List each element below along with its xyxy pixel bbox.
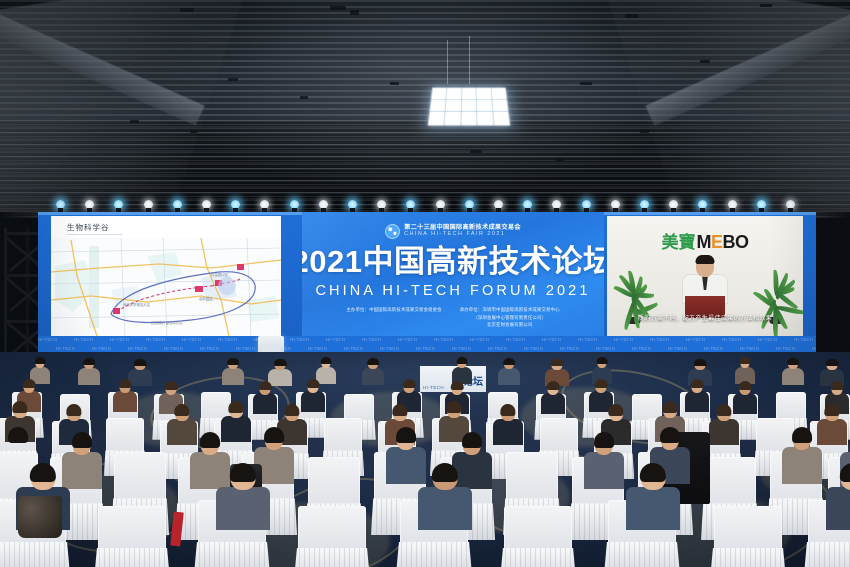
person-torso bbox=[709, 419, 739, 445]
wall-watermark: HI-TECH bbox=[344, 346, 363, 351]
chair-skirt bbox=[94, 548, 170, 567]
person-torso bbox=[216, 487, 270, 530]
audience-chair bbox=[714, 506, 782, 567]
wall-watermark: HI-TECH bbox=[236, 346, 255, 351]
audience-chair bbox=[504, 506, 572, 567]
svg-text:高新园站: 高新园站 bbox=[199, 296, 213, 301]
wall-watermark: HI-TECH bbox=[362, 337, 381, 342]
audience-chair bbox=[98, 506, 166, 567]
person-hair bbox=[227, 358, 239, 365]
person-hair bbox=[826, 359, 839, 366]
wall-watermark: HI-TECH bbox=[200, 346, 219, 351]
wall-watermark: HI-TECH bbox=[434, 337, 453, 342]
wall-watermark: HI-TECH bbox=[668, 346, 687, 351]
chair-back bbox=[506, 452, 558, 502]
audience-member bbox=[452, 358, 472, 384]
forum-title-cn: 2021中国高新技术论坛 bbox=[302, 246, 604, 277]
wall-watermark: HI-TECH bbox=[740, 346, 759, 351]
wall-watermark: HI-TECH bbox=[506, 337, 525, 342]
person-hair bbox=[831, 381, 844, 390]
wall-watermark: HI-TECH bbox=[812, 346, 816, 351]
person-hair bbox=[23, 379, 36, 388]
person-torso bbox=[498, 368, 520, 385]
chair-skirt bbox=[604, 542, 680, 567]
person-hair bbox=[691, 379, 704, 388]
person-hair bbox=[230, 463, 256, 482]
led-panel-right-video: 美寶 MEBO 质的方案不同，配方产生最佳成果的方法和效果 bbox=[607, 216, 803, 336]
person-hair bbox=[66, 404, 81, 416]
wall-watermark: HI-TECH bbox=[182, 337, 201, 342]
person-torso bbox=[362, 368, 384, 385]
svg-text:西丽湖站 留仙洞片区: 西丽湖站 留仙洞片区 bbox=[151, 320, 183, 325]
organizer-coorganizer: 承办单位：深圳市中国国际高新技术成果交易中心 （深圳会展中心管理有限责任公司） … bbox=[460, 307, 560, 328]
person-torso bbox=[253, 393, 277, 414]
person-hair bbox=[594, 432, 614, 448]
person-hair bbox=[274, 359, 287, 366]
person-hair bbox=[83, 358, 95, 365]
person-hair bbox=[446, 401, 461, 413]
chair-back bbox=[540, 418, 578, 453]
person-hair bbox=[660, 427, 680, 443]
audience-member bbox=[222, 359, 244, 385]
audience-member bbox=[498, 359, 520, 385]
audience-member bbox=[362, 359, 384, 385]
person-hair bbox=[500, 404, 515, 416]
organizer-host: 主办单位：中国国际高新技术成果交易会组委会 bbox=[346, 307, 441, 328]
person-hair bbox=[597, 357, 608, 364]
person-torso bbox=[782, 368, 804, 385]
person-hair bbox=[662, 401, 677, 413]
wall-watermark: HI-TECH bbox=[38, 337, 57, 342]
wall-watermark: HI-TECH bbox=[74, 337, 93, 342]
audience-member bbox=[782, 428, 822, 484]
audience-member bbox=[113, 380, 137, 412]
wall-watermark: HI-TECH bbox=[794, 337, 813, 342]
person-hair bbox=[35, 357, 46, 364]
person-hair bbox=[451, 381, 464, 390]
conference-hall-scene: 生物科学谷 bbox=[0, 0, 850, 567]
organizer-line: （深圳会展中心管理有限责任公司） bbox=[473, 315, 546, 321]
wall-watermark: HI-TECH bbox=[110, 337, 129, 342]
wall-watermark: HI-TECH bbox=[488, 346, 507, 351]
video-caption: 质的方案不同，配方产生最佳成果的方法和效果 bbox=[607, 313, 803, 322]
audience-member bbox=[541, 382, 565, 414]
person-hair bbox=[787, 358, 799, 365]
wall-watermark: HI-TECH bbox=[326, 337, 345, 342]
person-hair bbox=[824, 404, 839, 416]
wall-watermark: HI-TECH bbox=[632, 346, 651, 351]
chair-back bbox=[308, 457, 360, 507]
mebo-letter-m: M bbox=[696, 232, 711, 252]
wall-watermark: HI-TECH bbox=[524, 346, 543, 351]
mebo-letter-e: E bbox=[711, 232, 723, 252]
person-hair bbox=[134, 359, 147, 366]
chair-back bbox=[298, 506, 366, 551]
person-torso bbox=[418, 487, 472, 530]
wall-watermark: HI-TECH bbox=[416, 346, 435, 351]
person-hair bbox=[403, 379, 416, 388]
chair-back bbox=[504, 506, 572, 551]
organizer-line: 主办单位：中国国际高新技术成果交易会组委会 bbox=[346, 307, 441, 313]
person-hair bbox=[640, 463, 666, 482]
person-hair bbox=[551, 359, 564, 366]
organizer-block: 主办单位：中国国际高新技术成果交易会组委会 承办单位：深圳市中国国际高新技术成果… bbox=[346, 307, 559, 328]
person-hair bbox=[547, 381, 560, 390]
svg-text:科技园片区: 科技园片区 bbox=[211, 272, 229, 277]
fair-branding: 第二十三届中国国际高新技术成果交易会 CHINA HI-TECH FAIR 20… bbox=[385, 224, 521, 239]
person-hair bbox=[259, 381, 272, 390]
person-hair bbox=[119, 379, 132, 388]
audience-member bbox=[709, 405, 739, 445]
wall-watermark: HI-TECH bbox=[290, 337, 309, 342]
audience-chair bbox=[298, 506, 366, 567]
stage-light-beams bbox=[0, 0, 850, 240]
led-video-wall: 生物科学谷 bbox=[38, 212, 816, 360]
map-svg: 深圳大学城站片区 西丽湖站 留仙洞片区 科技园片区 高新园站 bbox=[51, 238, 281, 336]
chair-skirt bbox=[804, 542, 850, 567]
person-torso bbox=[222, 368, 244, 385]
person-hair bbox=[200, 432, 220, 448]
person-torso bbox=[782, 447, 822, 484]
hall-right-shadow bbox=[816, 212, 850, 362]
wall-watermark: HI-TECH bbox=[452, 346, 471, 351]
person-hair bbox=[392, 404, 407, 416]
chair-back bbox=[776, 392, 806, 419]
led-panel-center-title: 第二十三届中国国际高新技术成果交易会 CHINA HI-TECH FAIR 20… bbox=[302, 212, 604, 344]
led-panel-left-map: 生物科学谷 bbox=[51, 216, 281, 336]
audience-member bbox=[418, 464, 472, 530]
person-hair bbox=[174, 404, 189, 416]
wall-watermark: HI-TECH bbox=[704, 346, 723, 351]
map-canvas: 深圳大学城站片区 西丽湖站 留仙洞片区 科技园片区 高新园站 bbox=[51, 238, 281, 336]
wall-watermark: HI-TECH bbox=[164, 346, 183, 351]
chair-back bbox=[324, 418, 362, 453]
video-speaker bbox=[673, 256, 737, 318]
person-hair bbox=[694, 359, 707, 366]
wall-watermark: HI-TECH bbox=[128, 346, 147, 351]
chair-skirt bbox=[294, 548, 370, 567]
person-torso bbox=[685, 391, 709, 412]
person-hair bbox=[30, 463, 56, 482]
person-hair bbox=[432, 463, 458, 482]
audience-member bbox=[626, 464, 680, 530]
person-torso bbox=[113, 391, 137, 412]
audience-member bbox=[493, 405, 523, 445]
wall-watermark: HI-TECH bbox=[56, 346, 75, 351]
wall-watermark: HI-TECH bbox=[380, 346, 399, 351]
person-hair bbox=[608, 404, 623, 416]
chair-skirt bbox=[396, 542, 472, 567]
person-hair bbox=[840, 463, 850, 482]
person-torso bbox=[78, 368, 100, 385]
audience-member bbox=[685, 380, 709, 412]
person-hair bbox=[12, 401, 27, 413]
audience-member bbox=[826, 464, 850, 530]
wall-watermark: HI-TECH bbox=[722, 337, 741, 342]
wall-watermark: HI-TECH bbox=[578, 337, 597, 342]
forum-title-en: CHINA HI-TECH FORUM 2021 bbox=[315, 283, 590, 299]
person-hair bbox=[264, 427, 284, 443]
audience-member bbox=[584, 433, 624, 489]
person-torso bbox=[541, 393, 565, 414]
map-panel-title: 生物科学谷 bbox=[67, 222, 110, 233]
wall-watermark: HI-TECH bbox=[560, 346, 579, 351]
wall-watermark: HI-TECH bbox=[218, 337, 237, 342]
mebo-logo: 美寶 MEBO bbox=[661, 228, 748, 253]
mebo-logo-cn: 美寶 bbox=[661, 228, 695, 253]
person-hair bbox=[228, 401, 243, 413]
person-hair bbox=[457, 357, 468, 364]
person-torso bbox=[826, 487, 850, 530]
person-hair bbox=[396, 427, 416, 443]
wall-watermark: HI-TECH bbox=[308, 346, 327, 351]
person-hair bbox=[321, 357, 332, 364]
person-torso bbox=[493, 419, 523, 445]
person-hair bbox=[595, 379, 608, 388]
wall-watermark: HI-TECH bbox=[650, 337, 669, 342]
audience-member bbox=[253, 382, 277, 414]
wall-watermark: HI-TECH bbox=[776, 346, 795, 351]
wall-watermark: HI-TECH bbox=[686, 337, 705, 342]
person-hair bbox=[8, 427, 28, 443]
chair-skirt bbox=[500, 548, 576, 567]
person-hair bbox=[72, 432, 92, 448]
mebo-logo-en: MEBO bbox=[696, 232, 748, 253]
wall-watermark: HI-TECH bbox=[614, 337, 633, 342]
person-hair bbox=[367, 358, 379, 365]
chair-back bbox=[714, 506, 782, 551]
svg-text:深圳大学城站片区: 深圳大学城站片区 bbox=[123, 302, 151, 307]
person-hair bbox=[739, 381, 752, 390]
person-torso bbox=[626, 487, 680, 530]
wall-watermark: HI-TECH bbox=[470, 337, 489, 342]
china-hi-tech-fair-logo bbox=[385, 224, 400, 239]
chair-back bbox=[106, 418, 144, 453]
audience-member bbox=[78, 359, 100, 385]
chair-back bbox=[98, 506, 166, 551]
chair-skirt bbox=[194, 542, 270, 567]
audience-member bbox=[782, 359, 804, 385]
wall-watermark: HI-TECH bbox=[146, 337, 165, 342]
map-title-rule bbox=[67, 234, 123, 235]
person-hair bbox=[503, 358, 515, 365]
audience-member bbox=[216, 464, 270, 530]
wall-watermark: HI-TECH bbox=[596, 346, 615, 351]
chair-skirt bbox=[710, 548, 786, 567]
fair-title-en: CHINA HI-TECH FAIR 2021 bbox=[404, 232, 521, 238]
chair-back bbox=[704, 457, 756, 507]
mebo-letters-bo: BO bbox=[723, 232, 749, 252]
person-hair bbox=[792, 427, 812, 443]
person-hair bbox=[462, 432, 482, 448]
wall-watermark: HI-TECH bbox=[398, 337, 417, 342]
person-hair bbox=[284, 404, 299, 416]
handbag bbox=[18, 496, 62, 538]
side-sign-en: HI-TECH bbox=[423, 385, 444, 390]
person-hair bbox=[307, 379, 320, 388]
person-torso bbox=[584, 452, 624, 489]
wall-watermark: HI-TECH bbox=[92, 346, 111, 351]
person-hair bbox=[165, 381, 178, 390]
organizer-line: 北京亚财会展有限公司 bbox=[487, 322, 532, 328]
person-hair bbox=[716, 404, 731, 416]
chair-back bbox=[114, 452, 166, 502]
wall-watermark: HI-TECH bbox=[542, 337, 561, 342]
chair-skirt bbox=[0, 542, 70, 567]
organizer-line: 承办单位：深圳市中国国际高新技术成果交易中心 bbox=[460, 307, 560, 313]
person-hair bbox=[740, 357, 751, 364]
wall-watermark: HI-TECH bbox=[758, 337, 777, 342]
